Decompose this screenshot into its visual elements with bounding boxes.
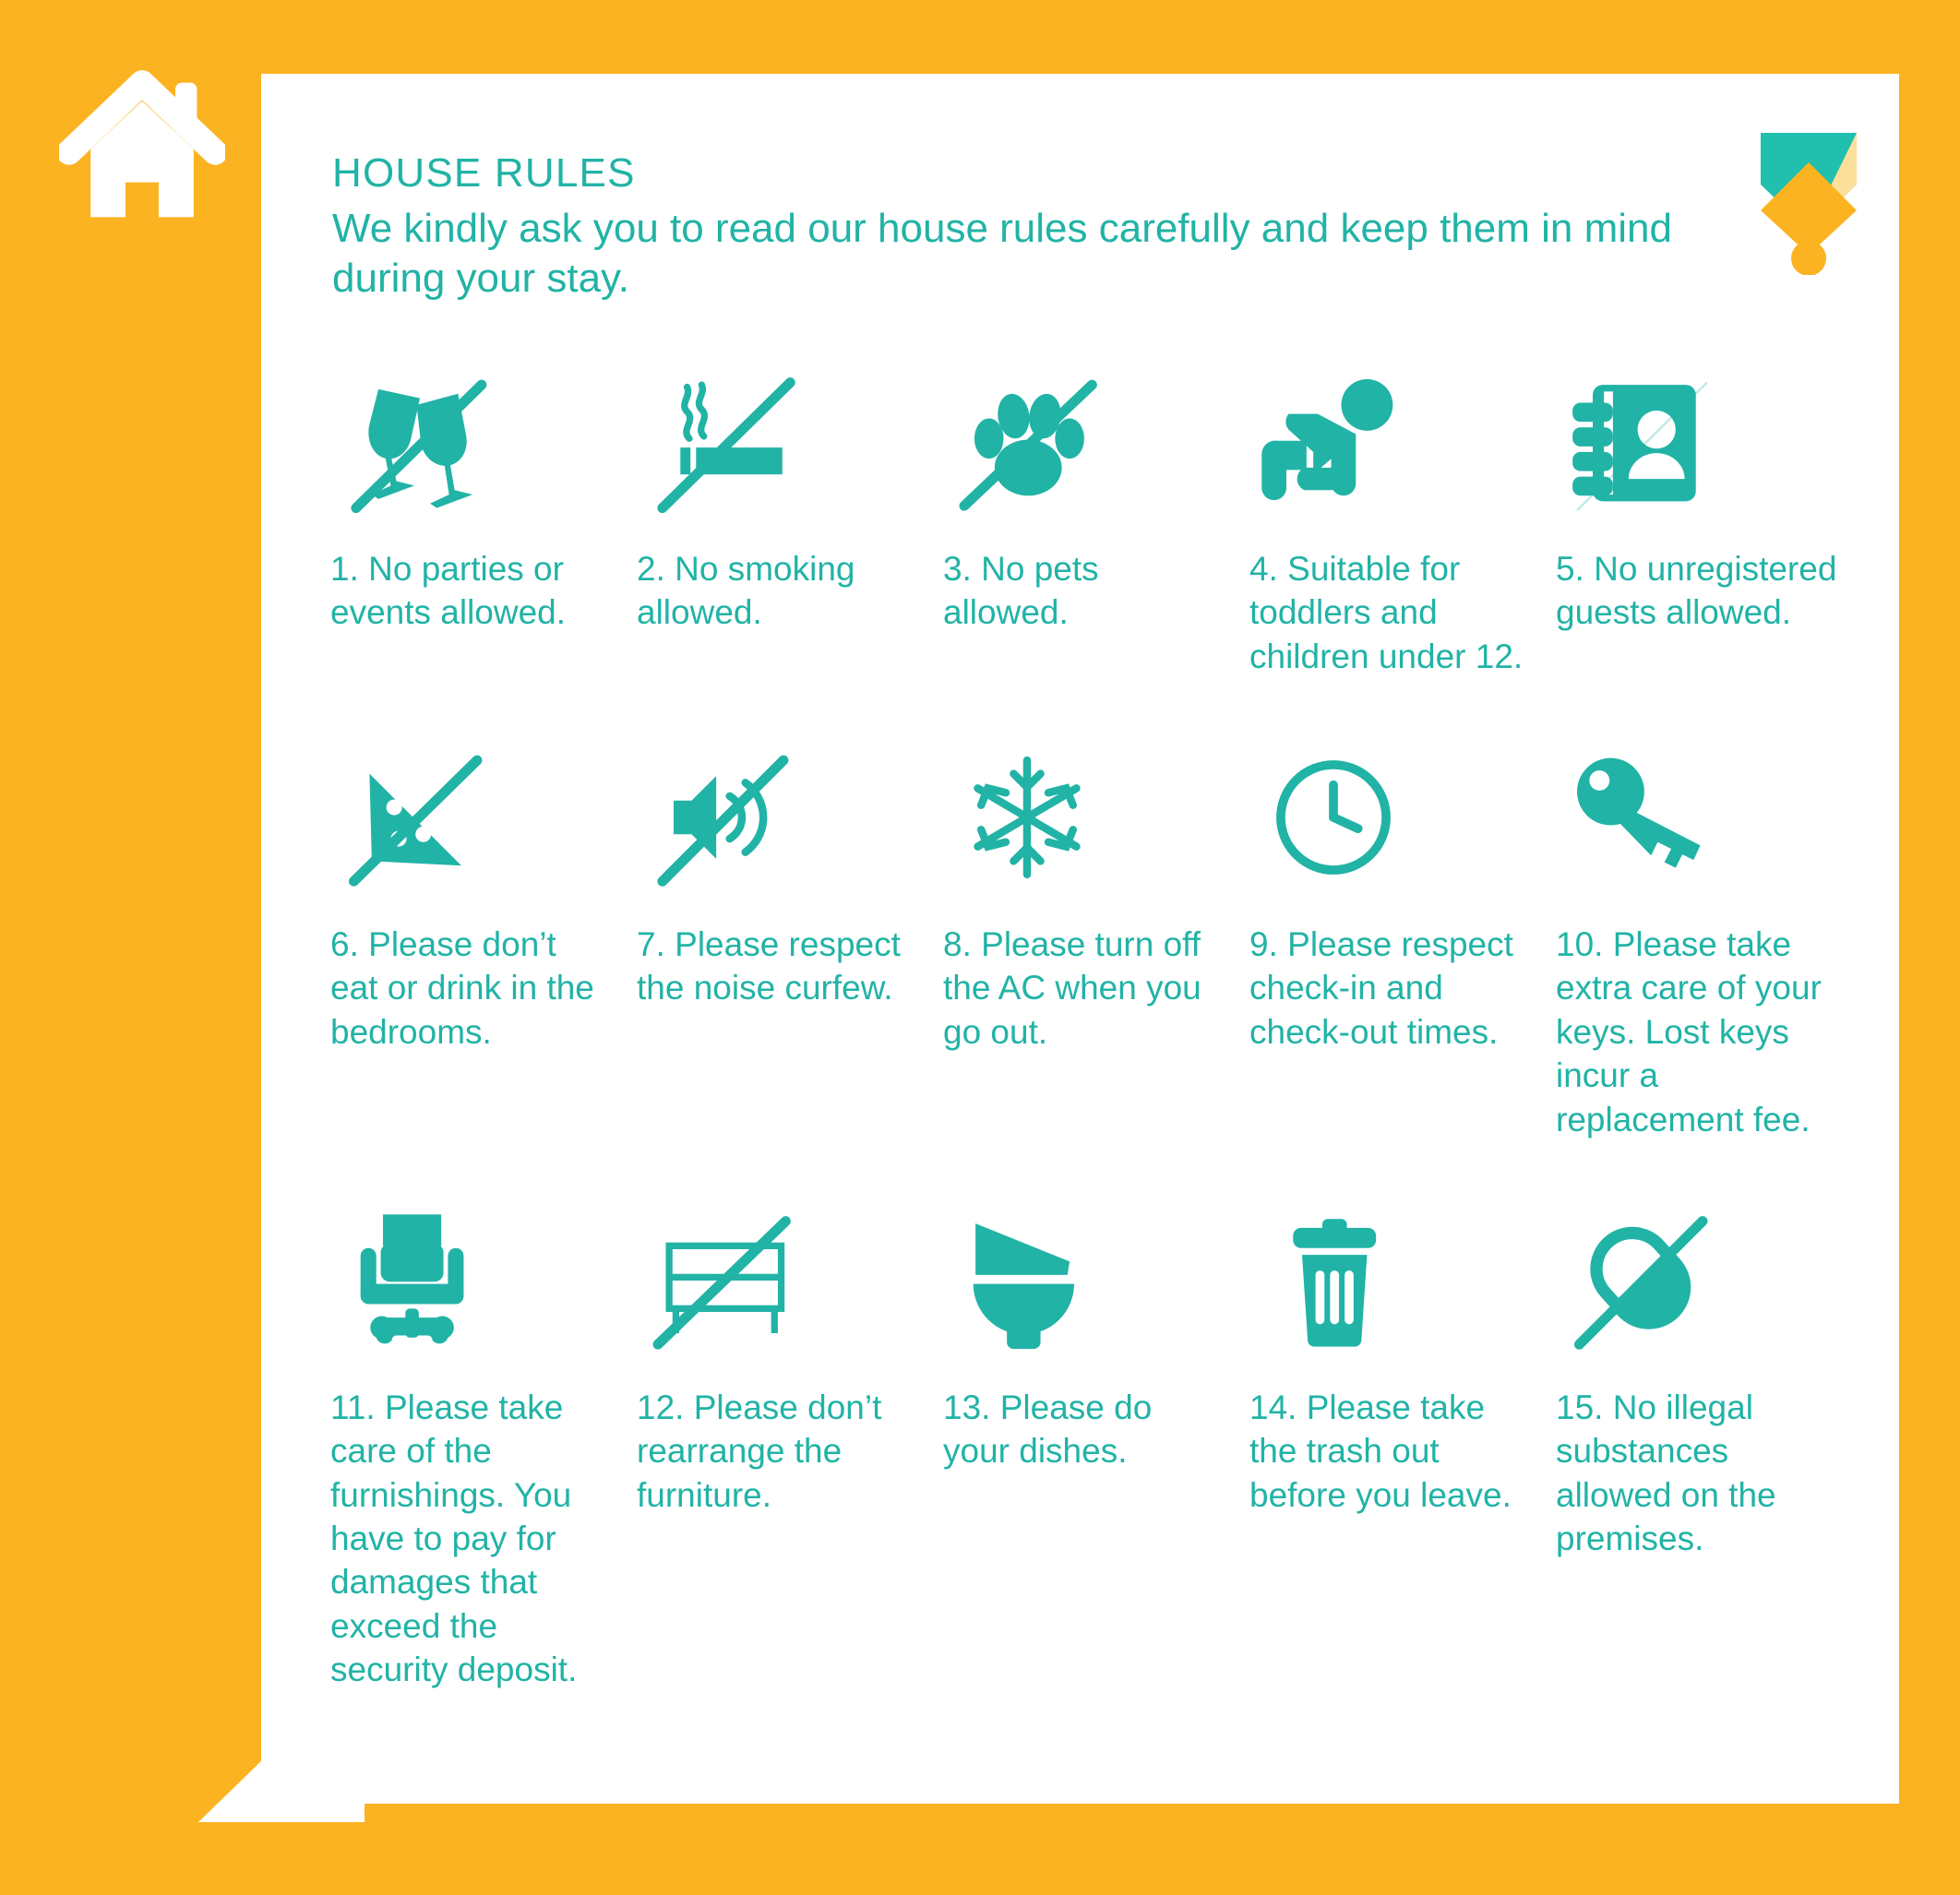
no-pill-crossed-icon <box>1561 1208 1746 1369</box>
rule-text: 2. No smoking allowed. <box>637 547 943 635</box>
clock-icon <box>1255 745 1440 906</box>
rule-number: 7. <box>637 925 665 963</box>
rule-label: Please turn off the AC when you go out. <box>943 925 1201 1051</box>
rule-text: 14. Please take the trash out before you… <box>1249 1386 1556 1517</box>
no-rearrange-furniture-crossed-icon <box>642 1208 827 1369</box>
address-book-crossed-icon <box>1561 369 1746 530</box>
rule-number: 10. <box>1556 925 1603 963</box>
house-icon <box>59 63 225 229</box>
snowflake-ac-icon <box>949 745 1133 906</box>
no-noise-speaker-crossed-icon <box>642 745 827 906</box>
poster-root: HOUSE RULES We kindly ask you to read ou… <box>0 0 1960 1895</box>
rule-label: Please take care of the furnishings. You… <box>330 1388 577 1688</box>
rule-item: 6. Please don’t eat or drink in the bedr… <box>330 745 637 1141</box>
rule-number: 5. <box>1556 550 1584 588</box>
rule-text: 6. Please don’t eat or drink in the bedr… <box>330 923 637 1054</box>
rule-item: 2. No smoking allowed. <box>637 369 943 678</box>
rule-text: 7. Please respect the noise curfew. <box>637 923 943 1010</box>
rule-label: Please respect check-in and check-out ti… <box>1249 925 1513 1051</box>
rule-item: 10. Please take extra care of your keys.… <box>1556 745 1862 1141</box>
rule-text: 1. No parties or events allowed. <box>330 547 637 635</box>
rule-item: 9. Please respect check-in and check-out… <box>1249 745 1556 1141</box>
rule-text: 3. No pets allowed. <box>943 547 1249 635</box>
rule-text: 5. No unregistered guests allowed. <box>1556 547 1862 635</box>
crawling-baby-icon <box>1255 369 1440 530</box>
rule-text: 13. Please do your dishes. <box>943 1386 1249 1473</box>
rule-label: No smoking allowed. <box>637 550 855 631</box>
rule-number: 8. <box>943 925 972 963</box>
no-food-pizza-crossed-icon <box>336 745 520 906</box>
rule-label: Suitable for toddlers and children under… <box>1249 550 1523 675</box>
rule-item: 1. No parties or events allowed. <box>330 369 637 678</box>
rule-item: 4. Suitable for toddlers and children un… <box>1249 369 1556 678</box>
rule-number: 6. <box>330 925 359 963</box>
rule-item: 3. No pets allowed. <box>943 369 1249 678</box>
brand-logo-icon <box>1753 127 1864 275</box>
rule-number: 2. <box>637 550 665 588</box>
page-subtitle: We kindly ask you to read our house rule… <box>332 204 1726 303</box>
rule-number: 11. <box>330 1388 376 1426</box>
rule-text: 11. Please take care of the furnishings.… <box>330 1386 637 1692</box>
rule-text: 8. Please turn off the AC when you go ou… <box>943 923 1249 1054</box>
rule-number: 9. <box>1249 925 1278 963</box>
rule-text: 12. Please don’t rearrange the furniture… <box>637 1386 943 1517</box>
rule-item: 12. Please don’t rearrange the furniture… <box>637 1208 943 1692</box>
dishes-bowl-plate-icon <box>949 1208 1133 1369</box>
rule-text: 10. Please take extra care of your keys.… <box>1556 923 1862 1141</box>
rule-label: Please respect the noise curfew. <box>637 925 901 1007</box>
trash-can-icon <box>1255 1208 1440 1369</box>
page-title: HOUSE RULES <box>332 148 1735 198</box>
rule-item: 5. No unregistered guests allowed. <box>1556 369 1862 678</box>
rule-item: 15. No illegal substances allowed on the… <box>1556 1208 1862 1692</box>
rule-number: 13. <box>943 1388 990 1426</box>
header: HOUSE RULES We kindly ask you to read ou… <box>332 148 1735 303</box>
rule-item: 7. Please respect the noise curfew. <box>637 745 943 1141</box>
champagne-glasses-crossed-icon <box>336 369 520 530</box>
rule-label: No parties or events allowed. <box>330 550 566 631</box>
rules-grid: 1. No parties or events allowed. 2. <box>330 369 1862 1691</box>
key-icon <box>1561 745 1746 906</box>
rule-number: 4. <box>1249 550 1278 588</box>
rule-text: 4. Suitable for toddlers and children un… <box>1249 547 1556 678</box>
rule-number: 14. <box>1249 1388 1297 1426</box>
rule-number: 1. <box>330 550 359 588</box>
rule-text: 15. No illegal substances allowed on the… <box>1556 1386 1862 1560</box>
rule-number: 3. <box>943 550 972 588</box>
rule-number: 15. <box>1556 1388 1603 1426</box>
rule-label: Please don’t eat or drink in the bedroom… <box>330 925 594 1051</box>
armchair-icon <box>336 1208 520 1369</box>
rule-text: 9. Please respect check-in and check-out… <box>1249 923 1556 1054</box>
rule-item: 11. Please take care of the furnishings.… <box>330 1208 637 1692</box>
no-smoking-icon <box>642 369 827 530</box>
rule-label: No unregistered guests allowed. <box>1556 550 1836 631</box>
rule-item: 14. Please take the trash out before you… <box>1249 1208 1556 1692</box>
rule-item: 8. Please turn off the AC when you go ou… <box>943 745 1249 1141</box>
no-pets-paw-crossed-icon <box>949 369 1133 530</box>
rule-item: 13. Please do your dishes. <box>943 1208 1249 1692</box>
rule-number: 12. <box>637 1388 684 1426</box>
